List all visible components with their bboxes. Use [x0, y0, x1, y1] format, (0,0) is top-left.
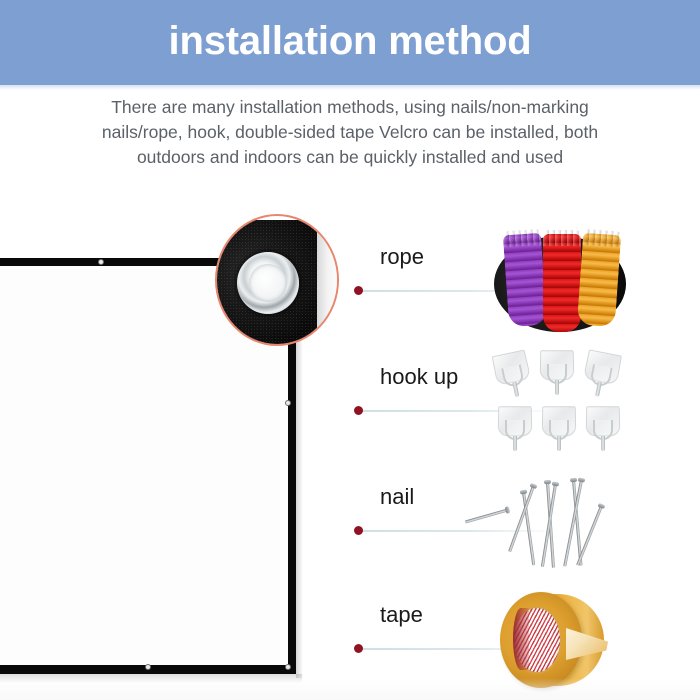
grommet-icon: [98, 259, 104, 265]
page-title: installation method: [169, 21, 532, 61]
grommet-icon: [145, 664, 151, 670]
item-label-hook-up: hook up: [380, 366, 458, 388]
rope-coil-purple: [503, 233, 547, 327]
rope-coil-orange: [577, 233, 621, 327]
nail-icon: [576, 505, 603, 565]
adhesive-hook-icon: [582, 406, 626, 454]
tape-roll-icon: [500, 592, 604, 690]
header-banner: installation method: [0, 0, 700, 85]
hook-stem: [601, 436, 605, 451]
connector-dot: [354, 526, 363, 535]
metal-eyelet-icon: [237, 252, 299, 314]
hook-stem: [557, 436, 561, 451]
connector-dot: [354, 644, 363, 653]
connector-dot: [354, 286, 363, 295]
item-row-rope: rope: [340, 228, 700, 338]
adhesive-hook-icon: [487, 348, 540, 404]
rope-artwork: [478, 228, 698, 338]
rope-top-red: [543, 230, 581, 246]
nail-artwork: [478, 468, 698, 578]
eyelet-hole: [249, 264, 287, 302]
connector-dot: [354, 406, 363, 415]
adhesive-hook-icon: [538, 406, 582, 454]
hook-artwork: [478, 348, 698, 458]
hook-stem: [513, 436, 517, 451]
nail-pile: [488, 468, 688, 578]
hook-stem: [555, 380, 559, 395]
rope-top-orange: [582, 229, 621, 248]
nail-icon: [465, 509, 508, 524]
item-label-nail: nail: [380, 486, 414, 508]
infographic-page: installation method There are many insta…: [0, 0, 700, 700]
hook-grid: [492, 350, 682, 456]
intro-paragraph: There are many installation methods, usi…: [80, 95, 620, 170]
adhesive-hook-icon: [576, 348, 628, 404]
adhesive-hook-icon: [536, 350, 580, 398]
header-shadow: [0, 85, 700, 90]
grommet-icon: [285, 664, 291, 670]
magnified-screen-edge: [317, 216, 339, 346]
rope-coil-red: [543, 234, 581, 332]
tape-core-shadow: [513, 608, 529, 670]
bottom-fade: [0, 678, 700, 700]
item-row-hook-up: hook up: [340, 348, 700, 458]
adhesive-hook-icon: [494, 406, 538, 454]
rope-top-purple: [503, 229, 542, 248]
item-row-nail: nail: [340, 468, 700, 578]
grommet-magnifier-inset: [215, 214, 339, 346]
grommet-icon: [285, 400, 291, 406]
item-label-tape: tape: [380, 604, 423, 626]
item-label-rope: rope: [380, 246, 424, 268]
